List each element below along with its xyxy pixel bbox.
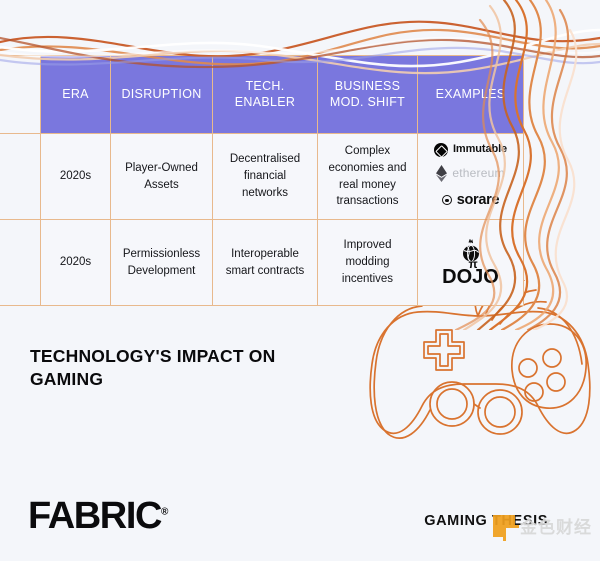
logo-ethereum: ethereum xyxy=(436,165,504,182)
row2-examples: DOπJO xyxy=(418,220,524,306)
watermark-text: 金色财经 xyxy=(520,513,592,538)
fabric-wordmark: FABRIC xyxy=(28,495,161,537)
row2-spacer xyxy=(0,220,41,306)
header-disruption: DISRUPTION xyxy=(111,56,213,134)
row1-tech-enabler: Decentralised financial networks xyxy=(213,134,318,220)
row1-disruption: Player-Owned Assets xyxy=(111,134,213,220)
watermark: 金色财经 xyxy=(493,513,592,538)
header-business-line1: BUSINESS xyxy=(335,79,401,93)
logo-sorare: sorare xyxy=(442,190,500,211)
immutable-cube-icon xyxy=(434,143,448,157)
fabric-logo: FABRIC® xyxy=(28,497,168,535)
sorare-circle-dot-icon xyxy=(442,195,452,205)
row1-era: 2020s xyxy=(41,134,111,220)
technology-impact-table: ERA DISRUPTION TECH. ENABLER BUSINESS MO… xyxy=(0,55,523,306)
table-row: 2020s Player-Owned Assets Decentralised … xyxy=(0,134,524,220)
logo-immutable: Immutable xyxy=(434,142,507,158)
trademark-symbol: ® xyxy=(161,506,168,517)
header-era: ERA xyxy=(41,56,111,134)
header-business-model-shift: BUSINESS MOD. SHIFT xyxy=(318,56,418,134)
slide-canvas: ERA DISRUPTION TECH. ENABLER BUSINESS MO… xyxy=(0,0,600,561)
row1-business-model-shift: Complex economies and real money transac… xyxy=(318,134,418,220)
header-examples: EXAMPLES xyxy=(418,56,524,134)
gamepad-line-art xyxy=(360,280,600,480)
row1-spacer xyxy=(0,134,41,220)
ethereum-label: ethereum xyxy=(452,165,504,182)
row2-tech-enabler: Interoperable smart contracts xyxy=(213,220,318,306)
header-tech-enabler: TECH. ENABLER xyxy=(213,56,318,134)
table-row: 2020s Permissionless Development Interop… xyxy=(0,220,524,306)
row1-examples: Immutable ethereum xyxy=(418,134,524,220)
immutable-label: Immutable xyxy=(453,142,507,158)
jinse-finance-logo xyxy=(493,515,515,537)
dojo-pi-glyph: π xyxy=(469,258,478,270)
sorare-label: sorare xyxy=(457,190,500,211)
slide-footer: FABRIC® GAMING THESIS 金色财经 xyxy=(0,489,600,561)
table-header-row: ERA DISRUPTION TECH. ENABLER BUSINESS MO… xyxy=(0,56,524,134)
row2-business-model-shift: Improved modding incentives xyxy=(318,220,418,306)
header-business-line2: MOD. SHIFT xyxy=(330,95,405,109)
logo-dojo: DOπJO xyxy=(425,239,516,287)
header-spacer xyxy=(0,56,41,134)
ethereum-diamond-icon xyxy=(436,165,447,182)
page-title: TECHNOLOGY'S IMPACT ON GAMING xyxy=(30,345,330,391)
row2-disruption: Permissionless Development xyxy=(111,220,213,306)
row2-era: 2020s xyxy=(41,220,111,306)
dojo-wordmark: DOπJO xyxy=(442,267,499,287)
